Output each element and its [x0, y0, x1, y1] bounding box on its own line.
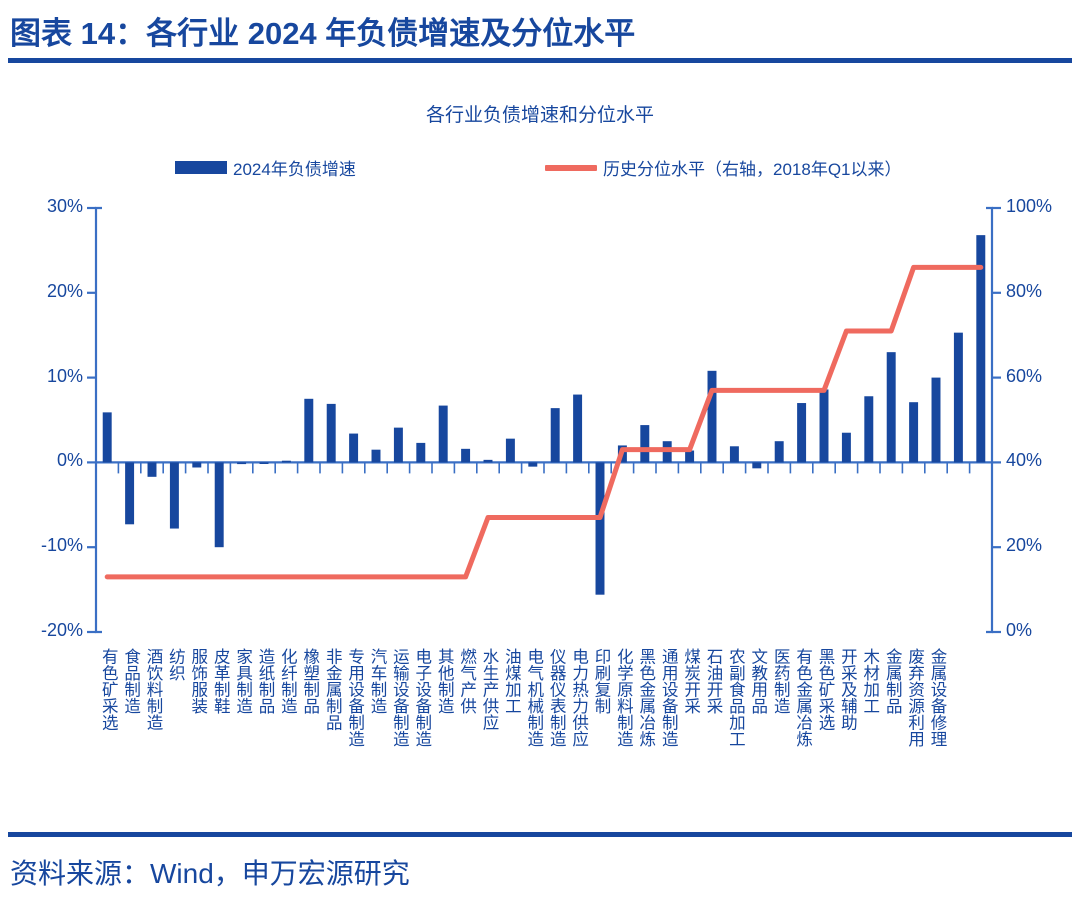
x-axis-label: 酒饮料制造 — [143, 648, 163, 731]
legend-bar-label: 2024年负债增速 — [233, 155, 356, 180]
x-axis-label: 造纸制品 — [255, 648, 275, 714]
x-axis-label: 电力热力供应 — [569, 648, 589, 747]
x-axis-label: 油煤加工 — [501, 648, 521, 714]
y-axis-left-tick-label: -20% — [21, 620, 83, 641]
y-axis-right-tick-label: 20% — [1006, 535, 1076, 556]
bar — [887, 352, 896, 462]
x-axis-label: 橡塑制品 — [300, 648, 320, 714]
y-axis-left-tick-label: 10% — [21, 366, 83, 387]
bar — [640, 425, 649, 462]
x-axis-label: 有色金属冶炼 — [793, 648, 813, 747]
chart-title: 各行业负债增速和分位水平 — [0, 100, 1080, 127]
x-axis-label: 家具制造 — [233, 648, 253, 714]
x-axis-label: 农副食品加工 — [725, 648, 745, 747]
bar — [125, 462, 134, 524]
bar — [596, 462, 605, 594]
x-axis-label: 化学原料制造 — [613, 648, 633, 747]
x-axis-label: 石油开采 — [703, 648, 723, 714]
bar — [954, 333, 963, 463]
x-axis-label: 有色矿采选 — [98, 648, 118, 731]
x-axis-label: 纺织 — [165, 648, 185, 681]
y-axis-right-tick-label: 40% — [1006, 450, 1076, 471]
bar — [282, 461, 291, 463]
x-axis-label: 皮革制鞋 — [210, 648, 230, 714]
x-axis-labels: 有色矿采选食品制造酒饮料制造纺织服饰服装皮革制鞋家具制造造纸制品化纤制造橡塑制品… — [0, 648, 1080, 808]
y-axis-right-tick-label: 80% — [1006, 281, 1076, 302]
y-axis-right-tick-label: 0% — [1006, 620, 1076, 641]
bar — [148, 462, 157, 476]
bar — [484, 460, 493, 463]
bar — [260, 462, 269, 464]
bar — [528, 462, 537, 466]
x-axis-label: 其他制造 — [434, 648, 454, 714]
x-axis-label: 金属设备修理 — [927, 648, 947, 747]
bar — [506, 439, 515, 463]
x-axis-label: 燃气产供 — [457, 648, 477, 714]
footer-divider — [8, 832, 1072, 837]
x-axis-label: 电子设备制造 — [412, 648, 432, 747]
x-axis-label: 食品制造 — [121, 648, 141, 714]
bar — [461, 449, 470, 463]
x-axis-label: 通用设备制造 — [658, 648, 678, 747]
legend-bar-swatch-icon — [175, 161, 227, 174]
x-axis-label: 木材加工 — [860, 648, 880, 714]
bar — [864, 396, 873, 462]
bar — [730, 446, 739, 462]
bar — [752, 462, 761, 468]
bar — [192, 462, 201, 467]
x-axis-label: 印刷复制 — [591, 648, 611, 714]
x-axis-label: 煤炭开采 — [681, 648, 701, 714]
y-axis-right-tick-label: 60% — [1006, 366, 1076, 387]
x-axis-label: 专用设备制造 — [345, 648, 365, 747]
bar — [215, 462, 224, 547]
x-axis-label: 电气机械制造 — [524, 648, 544, 747]
bar — [349, 434, 358, 463]
chart-legend: 2024年负债增速 历史分位水平（右轴，2018年Q1以来） — [0, 155, 1080, 185]
x-axis-label: 黑色金属冶炼 — [636, 648, 656, 747]
x-axis-label: 文教用品 — [748, 648, 768, 714]
bar — [170, 462, 179, 528]
x-axis-label: 非金属制品 — [322, 648, 342, 731]
bar — [416, 443, 425, 463]
y-axis-left-tick-label: 0% — [21, 450, 83, 471]
bar — [932, 378, 941, 463]
legend-line-swatch-icon — [545, 165, 597, 171]
x-axis-label: 医药制造 — [770, 648, 790, 714]
x-axis-label: 开采及辅助 — [837, 648, 857, 731]
x-axis-label: 废弃资源利用 — [905, 648, 925, 747]
bar — [394, 428, 403, 463]
legend-item-line: 历史分位水平（右轴，2018年Q1以来） — [545, 155, 902, 180]
figure-header: 图表 14：各行业 2024 年负债增速及分位水平 — [0, 0, 1080, 62]
legend-line-label: 历史分位水平（右轴，2018年Q1以来） — [603, 155, 902, 180]
x-axis-label: 服饰服装 — [188, 648, 208, 714]
bar — [237, 462, 246, 464]
y-axis-right-tick-label: 100% — [1006, 196, 1076, 217]
bar — [775, 441, 784, 462]
bar — [820, 389, 829, 462]
source-note: 资料来源：Wind，申万宏源研究 — [10, 852, 410, 892]
x-axis-label: 仪器仪表制造 — [546, 648, 566, 747]
y-axis-left-tick-label: 20% — [21, 281, 83, 302]
chart-svg — [0, 195, 1080, 655]
bar — [551, 408, 560, 462]
bar — [909, 402, 918, 462]
x-axis-label: 金属制品 — [882, 648, 902, 714]
y-axis-left-tick-label: -10% — [21, 535, 83, 556]
bar — [708, 371, 717, 463]
bar — [304, 399, 313, 463]
x-axis-label: 化纤制造 — [277, 648, 297, 714]
chart-plot-area: 30%20%10%0%-10%-20%100%80%60%40%20%0% — [0, 195, 1080, 655]
header-divider — [8, 58, 1072, 63]
bar — [573, 395, 582, 463]
bar — [797, 403, 806, 462]
bar — [372, 450, 381, 463]
bar — [103, 412, 112, 462]
bar — [327, 404, 336, 463]
bar — [439, 406, 448, 463]
legend-item-bar: 2024年负债增速 — [175, 155, 356, 180]
x-axis-label: 汽车制造 — [367, 648, 387, 714]
page-title: 图表 14：各行业 2024 年负债增速及分位水平 — [10, 8, 635, 53]
percentile-line — [107, 267, 981, 577]
bar — [842, 433, 851, 463]
x-axis-label: 运输设备制造 — [389, 648, 409, 747]
bar — [685, 451, 694, 463]
x-axis-label: 黑色矿采选 — [815, 648, 835, 731]
y-axis-left-tick-label: 30% — [21, 196, 83, 217]
x-axis-label: 水生产供应 — [479, 648, 499, 731]
